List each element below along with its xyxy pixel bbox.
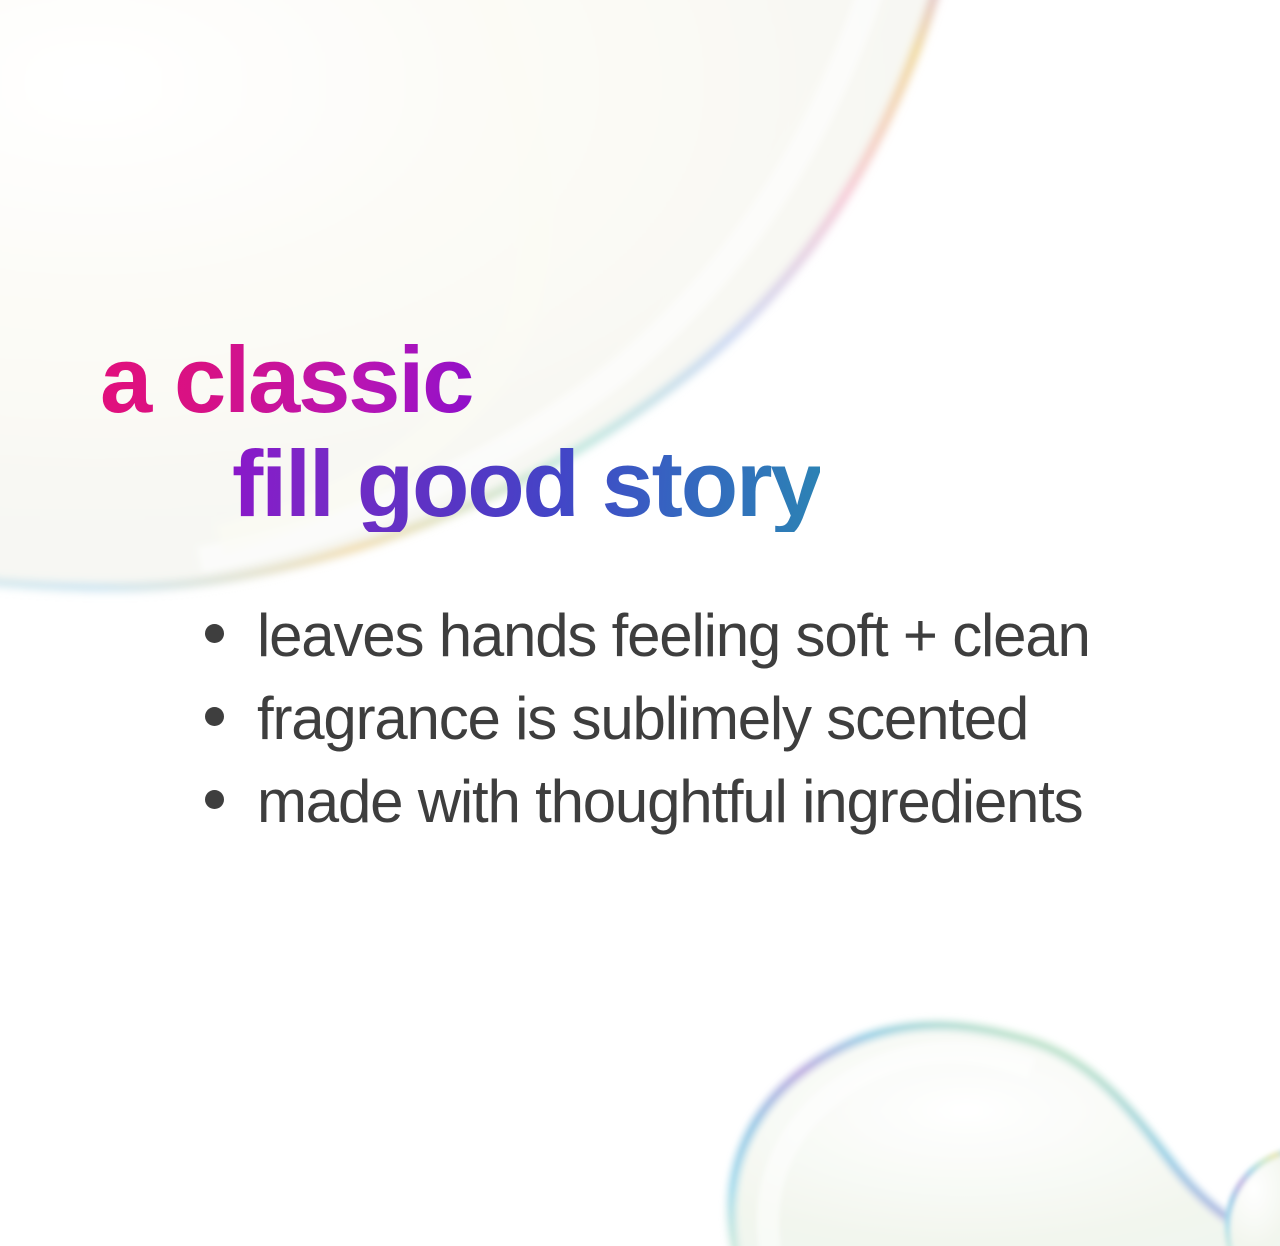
list-item: leaves hands feeling soft + clean — [205, 606, 1205, 689]
soap-bubble-bottom-right — [731, 1025, 1280, 1246]
list-item: made with thoughtful ingredients — [205, 772, 1205, 855]
benefits-list: leaves hands feeling soft + clean fragra… — [205, 606, 1205, 855]
promo-graphic: a classic fill good story leaves hands f… — [0, 0, 1280, 1246]
bullet-dot-icon — [205, 624, 224, 643]
list-item-label: leaves hands feeling soft + clean — [257, 606, 1090, 666]
list-item-label: fragrance is sublimely scented — [257, 689, 1028, 749]
bullet-dot-icon — [205, 790, 224, 809]
headline-line-1: a classic — [100, 332, 472, 428]
list-item-label: made with thoughtful ingredients — [257, 772, 1082, 832]
list-item: fragrance is sublimely scented — [205, 689, 1205, 772]
headline: a classic fill good story — [0, 332, 1280, 532]
headline-line-2: fill good story — [232, 436, 820, 532]
bullet-dot-icon — [205, 707, 224, 726]
